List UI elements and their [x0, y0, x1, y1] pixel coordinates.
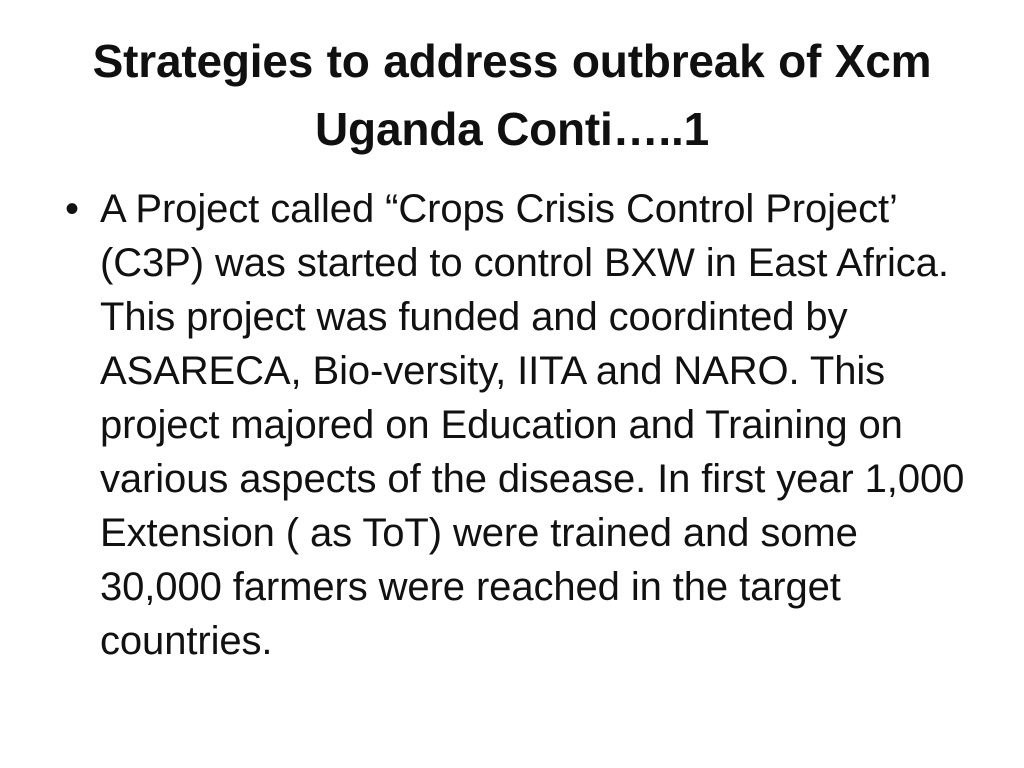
list-item: • A Project called “Crops Crisis Control…	[56, 182, 976, 668]
slide-canvas: Strategies to address outbreak of Xcm Ug…	[0, 0, 1024, 768]
slide-body-content: • A Project called “Crops Crisis Control…	[56, 182, 976, 668]
slide-title: Strategies to address outbreak of Xcm Ug…	[56, 28, 968, 163]
bullet-item-text: A Project called “Crops Crisis Control P…	[100, 182, 976, 668]
bullet-point-icon: •	[65, 182, 89, 236]
